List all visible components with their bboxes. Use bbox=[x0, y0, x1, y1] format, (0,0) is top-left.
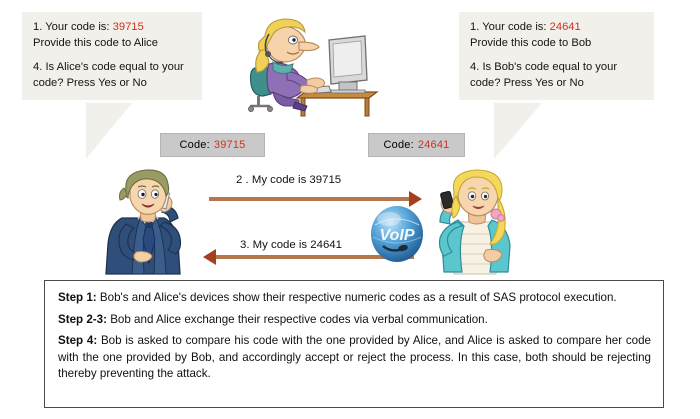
message-2-label: 2 . My code is 39715 bbox=[236, 174, 341, 186]
callout-right: 1. Your code is: 24641 Provide this code… bbox=[459, 12, 654, 100]
callout-left: 1. Your code is: 39715 Provide this code… bbox=[22, 12, 202, 100]
callout-right-line1-prefix: 1. Your code is: bbox=[470, 21, 547, 33]
step-4-tag: Step 4: bbox=[58, 334, 97, 347]
voip-logo-icon: VoIP bbox=[367, 205, 427, 263]
step-23-paragraph: Step 2-3: Bob and Alice exchange their r… bbox=[58, 312, 651, 329]
callout-right-line1: 1. Your code is: 24641 bbox=[470, 20, 644, 36]
bob-on-phone-icon bbox=[100, 168, 196, 276]
callout-right-line3: 4. Is Bob's code equal to your bbox=[470, 60, 644, 76]
step-1-text: Bob's and Alice's devices show their res… bbox=[100, 291, 617, 304]
callout-right-line4: code? Press Yes or No bbox=[470, 76, 644, 92]
code-box-alice-label: Code: bbox=[384, 139, 414, 151]
voip-logo-text: VoIP bbox=[380, 227, 415, 244]
callout-left-line1-prefix: 1. Your code is: bbox=[33, 21, 110, 33]
step-4-paragraph: Step 4: Bob is asked to compare his code… bbox=[58, 333, 651, 383]
code-box-alice-value: 24641 bbox=[418, 139, 450, 151]
callout-right-tail bbox=[494, 103, 542, 159]
arrow-alice-to-bob-head-icon bbox=[203, 249, 216, 265]
steps-description-box: Step 1: Bob's and Alice's devices show t… bbox=[44, 280, 664, 408]
diagram-canvas: 1. Your code is: 39715 Provide this code… bbox=[0, 0, 700, 419]
code-box-bob-value: 39715 bbox=[214, 139, 246, 151]
callout-left-line4: code? Press Yes or No bbox=[33, 76, 192, 92]
alice-on-phone-icon bbox=[428, 168, 526, 276]
code-box-alice: Code: 24641 bbox=[368, 133, 465, 157]
attacker-at-computer-icon bbox=[243, 14, 383, 118]
callout-right-spacer bbox=[470, 51, 644, 60]
callout-left-spacer bbox=[33, 51, 192, 60]
callout-left-code: 39715 bbox=[113, 21, 144, 33]
step-23-text: Bob and Alice exchange their respective … bbox=[110, 313, 488, 326]
code-box-bob-label: Code: bbox=[180, 139, 210, 151]
message-3-label: 3. My code is 24641 bbox=[240, 239, 342, 251]
step-1-tag: Step 1: bbox=[58, 291, 97, 304]
callout-left-line3: 4. Is Alice's code equal to your bbox=[33, 60, 192, 76]
step-4-text: Bob is asked to compare his code with th… bbox=[58, 334, 651, 380]
callout-right-code: 24641 bbox=[550, 21, 581, 33]
callout-left-line2: Provide this code to Alice bbox=[33, 36, 192, 52]
callout-left-line1: 1. Your code is: 39715 bbox=[33, 20, 192, 36]
callout-right-line2: Provide this code to Bob bbox=[470, 36, 644, 52]
arrow-bob-to-alice-line bbox=[209, 197, 412, 201]
code-box-bob: Code: 39715 bbox=[160, 133, 265, 157]
step-23-tag: Step 2-3: bbox=[58, 313, 107, 326]
callout-left-tail bbox=[86, 103, 132, 159]
step-1-paragraph: Step 1: Bob's and Alice's devices show t… bbox=[58, 290, 651, 307]
